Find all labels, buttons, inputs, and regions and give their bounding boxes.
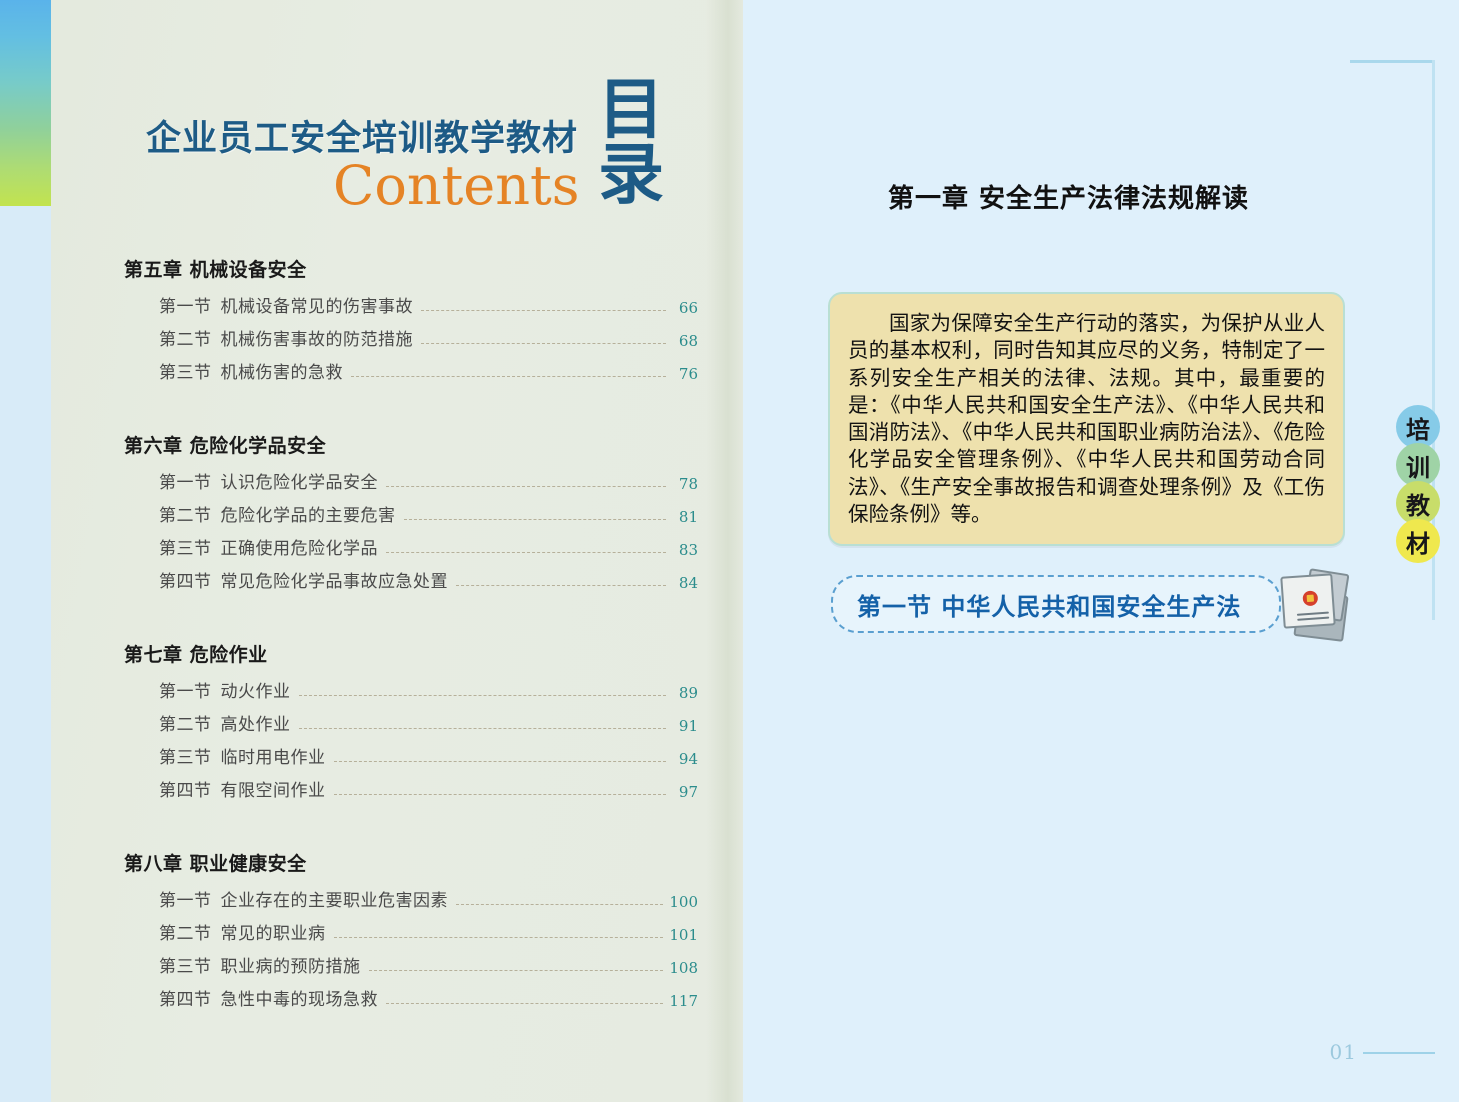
- contents-page: 企业员工安全培训教学教材 Contents 目 录 第五章 机械设备安全第一节机…: [51, 0, 743, 1102]
- toc-page-number: 66: [672, 299, 698, 317]
- toc-entry-title: 常见的职业病: [221, 919, 326, 944]
- toc-chapter-title: 第八章 职业健康安全: [124, 849, 743, 876]
- chapter-heading: 第一章 安全生产法律法规解读: [888, 178, 1408, 215]
- toc-leader-dots: [421, 309, 666, 311]
- toc-entry-section: 第二节: [159, 919, 212, 944]
- document-sheet-front: [1280, 573, 1336, 629]
- toc-page-number: 76: [672, 365, 698, 383]
- mulu-vertical-heading: 目 录: [596, 77, 666, 206]
- toc-leader-dots: [334, 760, 667, 762]
- toc-leader-dots: [299, 694, 667, 696]
- toc-entry-section: 第一节: [159, 292, 212, 317]
- toc-entry[interactable]: 第三节机械伤害的急救76: [159, 358, 698, 383]
- toc-entry-title: 认识危险化学品安全: [221, 468, 379, 493]
- section-banner: 第一节 中华人民共和国安全生产法: [831, 575, 1281, 633]
- document-text-lines: [1297, 612, 1330, 624]
- toc-leader-dots: [334, 936, 664, 938]
- toc-leader-dots: [386, 485, 666, 487]
- mulu-char-2: 录: [596, 142, 666, 207]
- toc-page-number: 83: [672, 541, 698, 559]
- corner-bracket-top-right: [1350, 60, 1435, 123]
- toc-leader-dots: [386, 551, 666, 553]
- toc-entry[interactable]: 第三节临时用电作业94: [159, 743, 698, 768]
- toc-entry-title: 正确使用危险化学品: [221, 534, 379, 559]
- toc-page-number: 108: [669, 959, 698, 977]
- thumb-tab-training-material: 培训教材: [1396, 405, 1448, 565]
- toc-entry[interactable]: 第一节企业存在的主要职业危害因素100: [159, 886, 698, 911]
- toc-entry-section: 第三节: [159, 952, 212, 977]
- toc-page-number: 78: [672, 475, 698, 493]
- toc-entry-title: 机械伤害的急救: [221, 358, 344, 383]
- toc-entry-title: 危险化学品的主要危害: [221, 501, 396, 526]
- toc-entry[interactable]: 第四节常见危险化学品事故应急处置84: [159, 567, 698, 592]
- toc-page-number: 117: [669, 992, 698, 1010]
- toc-entry-section: 第三节: [159, 358, 212, 383]
- toc-entry-title: 常见危险化学品事故应急处置: [221, 567, 449, 592]
- left-edge-strip: [0, 0, 51, 1102]
- corner-rule-bottom-right: [1363, 1052, 1435, 1054]
- toc-page-number: 81: [672, 508, 698, 526]
- toc-entry[interactable]: 第一节动火作业89: [159, 677, 698, 702]
- toc-leader-dots: [386, 1002, 663, 1004]
- toc-leader-dots: [351, 375, 666, 377]
- book-spread: 企业员工安全培训教学教材 Contents 目 录 第五章 机械设备安全第一节机…: [0, 0, 1459, 1102]
- toc-entry-section: 第二节: [159, 325, 212, 350]
- toc-page-number: 101: [669, 926, 698, 944]
- toc-leader-dots: [421, 342, 666, 344]
- toc-leader-dots: [369, 969, 664, 971]
- toc-entry-title: 急性中毒的现场急救: [221, 985, 379, 1010]
- edge-gradient-band: [0, 0, 51, 206]
- toc-entry-title: 临时用电作业: [221, 743, 326, 768]
- toc-entry-section: 第三节: [159, 534, 212, 559]
- toc-entry-title: 企业存在的主要职业危害因素: [221, 886, 449, 911]
- contents-header: 企业员工安全培训教学教材 Contents 目 录: [51, 72, 743, 242]
- national-emblem-icon: [1302, 590, 1318, 606]
- toc-page-number: 100: [669, 893, 698, 911]
- toc-entry-section: 第三节: [159, 743, 212, 768]
- intro-note-text: 国家为保障安全生产行动的落实，为保护从业人员的基本权利，同时告知其应尽的义务，特…: [848, 310, 1325, 528]
- toc-page-number: 91: [672, 717, 698, 735]
- contents-heading: Contents: [333, 154, 579, 217]
- section-banner-title: 第一节 中华人民共和国安全生产法: [857, 587, 1241, 622]
- toc-entry-title: 有限空间作业: [221, 776, 326, 801]
- toc-entry[interactable]: 第二节高处作业91: [159, 710, 698, 735]
- toc-entry[interactable]: 第三节正确使用危险化学品83: [159, 534, 698, 559]
- toc-entry[interactable]: 第四节急性中毒的现场急救117: [159, 985, 698, 1010]
- toc-page-number: 89: [672, 684, 698, 702]
- toc-entry[interactable]: 第一节机械设备常见的伤害事故66: [159, 292, 698, 317]
- toc-entry-title: 机械伤害事故的防范措施: [221, 325, 414, 350]
- toc-entry-section: 第一节: [159, 677, 212, 702]
- table-of-contents: 第五章 机械设备安全第一节机械设备常见的伤害事故66第二节机械伤害事故的防范措施…: [51, 255, 743, 1036]
- intro-note-box: 国家为保障安全生产行动的落实，为保护从业人员的基本权利，同时告知其应尽的义务，特…: [828, 292, 1345, 546]
- toc-chapter-block: 第八章 职业健康安全第一节企业存在的主要职业危害因素100第二节常见的职业病10…: [51, 849, 743, 1010]
- chapter-page: 01 第一章 安全生产法律法规解读 国家为保障安全生产行动的落实，为保护从业人员…: [743, 0, 1459, 1102]
- toc-chapter-title: 第七章 危险作业: [124, 640, 743, 667]
- toc-chapter-block: 第六章 危险化学品安全第一节认识危险化学品安全78第二节危险化学品的主要危害81…: [51, 431, 743, 592]
- toc-page-number: 84: [672, 574, 698, 592]
- toc-leader-dots: [404, 518, 667, 520]
- toc-entry[interactable]: 第四节有限空间作业97: [159, 776, 698, 801]
- toc-chapter-block: 第五章 机械设备安全第一节机械设备常见的伤害事故66第二节机械伤害事故的防范措施…: [51, 255, 743, 383]
- toc-page-number: 68: [672, 332, 698, 350]
- toc-entry-section: 第四节: [159, 567, 212, 592]
- toc-entry-title: 职业病的预防措施: [221, 952, 361, 977]
- toc-entry[interactable]: 第一节认识危险化学品安全78: [159, 468, 698, 493]
- toc-entry[interactable]: 第二节机械伤害事故的防范措施68: [159, 325, 698, 350]
- toc-leader-dots: [299, 727, 667, 729]
- toc-entry-section: 第四节: [159, 985, 212, 1010]
- law-documents-icon: [1276, 567, 1354, 641]
- toc-leader-dots: [456, 903, 663, 905]
- toc-leader-dots: [456, 584, 666, 586]
- toc-leader-dots: [334, 793, 667, 795]
- toc-chapter-title: 第五章 机械设备安全: [124, 255, 743, 282]
- toc-entry[interactable]: 第二节常见的职业病101: [159, 919, 698, 944]
- toc-chapter-title: 第六章 危险化学品安全: [124, 431, 743, 458]
- toc-entry[interactable]: 第三节职业病的预防措施108: [159, 952, 698, 977]
- toc-entry-section: 第二节: [159, 501, 212, 526]
- page-gutter-shadow: [706, 0, 746, 1102]
- thumb-tab-char-label: 材: [1396, 519, 1440, 563]
- thumb-tab-char: 材: [1396, 519, 1440, 563]
- toc-chapter-block: 第七章 危险作业第一节动火作业89第二节高处作业91第三节临时用电作业94第四节…: [51, 640, 743, 801]
- toc-entry-section: 第一节: [159, 886, 212, 911]
- toc-entry-title: 机械设备常见的伤害事故: [221, 292, 414, 317]
- toc-entry-title: 高处作业: [221, 710, 291, 735]
- toc-entry-section: 第四节: [159, 776, 212, 801]
- toc-page-number: 94: [672, 750, 698, 768]
- toc-entry-section: 第二节: [159, 710, 212, 735]
- toc-entry[interactable]: 第二节危险化学品的主要危害81: [159, 501, 698, 526]
- mulu-char-1: 目: [596, 77, 666, 142]
- toc-entry-title: 动火作业: [221, 677, 291, 702]
- toc-entry-section: 第一节: [159, 468, 212, 493]
- page-number: 01: [1330, 1040, 1357, 1064]
- toc-page-number: 97: [672, 783, 698, 801]
